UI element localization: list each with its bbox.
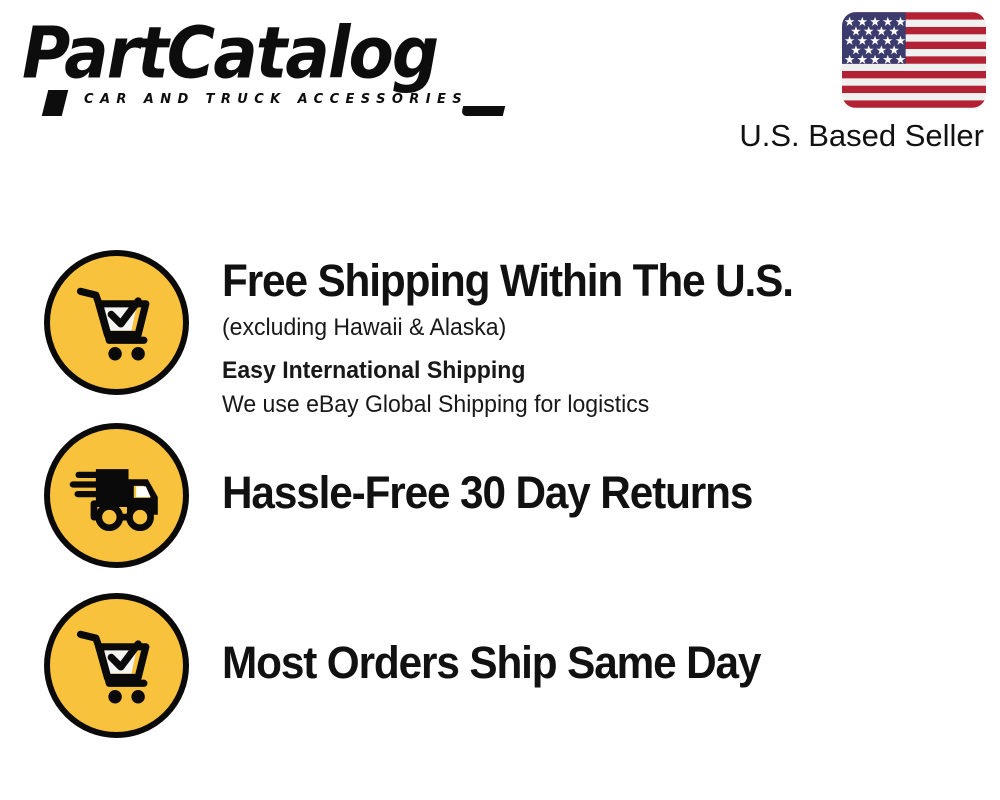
feature-subtext-exclusion: (excluding Hawaii & Alaska) [222, 312, 952, 344]
feature-text-block: Most Orders Ship Same Day [222, 593, 982, 688]
feature-list: Free Shipping Within The U.S. (excluding… [0, 0, 1000, 800]
delivery-truck-icon [44, 423, 189, 568]
feature-text-block: Hassle-Free 30 Day Returns [222, 423, 982, 518]
feature-subtext-logistics: We use eBay Global Shipping for logistic… [222, 389, 952, 421]
shopping-cart-check-icon [44, 250, 189, 395]
feature-text-block: Free Shipping Within The U.S. (excluding… [222, 250, 982, 421]
feature-title: Hassle-Free 30 Day Returns [222, 468, 936, 518]
shopping-cart-check-icon [44, 593, 189, 738]
feature-title: Most Orders Ship Same Day [222, 638, 936, 688]
feature-title: Free Shipping Within The U.S. [222, 256, 936, 306]
feature-subtext-international-heading: Easy International Shipping [222, 355, 952, 387]
